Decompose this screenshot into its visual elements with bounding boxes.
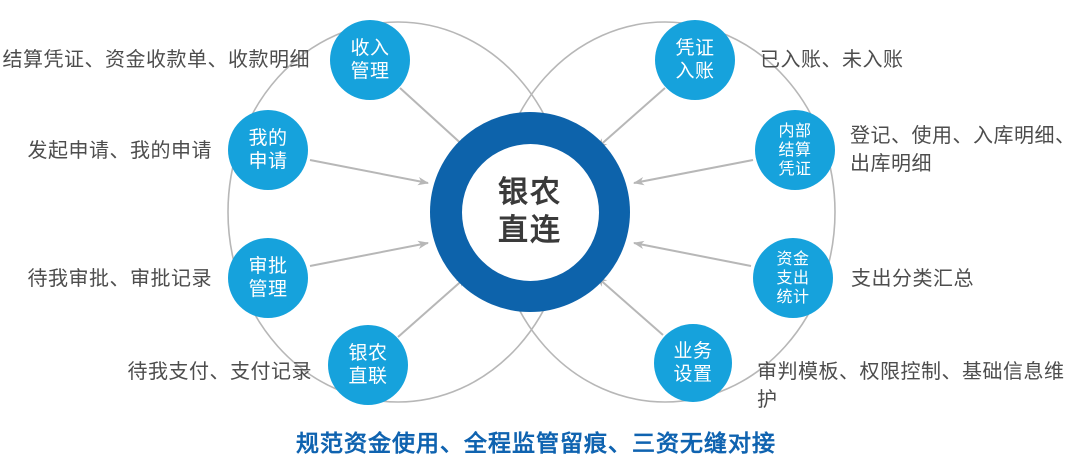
node-income-management-line1: 收入 <box>350 37 389 60</box>
label-my-application: 发起申请、我的申请 <box>0 137 212 165</box>
node-internal-settlement-voucher-line2: 结算 <box>778 141 811 160</box>
node-voucher-entry-line1: 凭证 <box>675 37 714 60</box>
node-internal-settlement-voucher-line1: 内部 <box>778 122 811 141</box>
label-approval-management: 待我审批、审批记录 <box>0 265 212 293</box>
node-approval-management-line1: 审批 <box>248 255 287 278</box>
node-expenditure-statistics[interactable]: 资金 支出 统计 <box>753 238 833 318</box>
connector-income-management <box>400 88 466 148</box>
node-income-management-line2: 管理 <box>350 60 389 83</box>
node-expenditure-statistics-line3: 统计 <box>776 288 809 307</box>
connector-internal-settlement-voucher <box>634 160 753 183</box>
connector-business-settings <box>597 277 663 335</box>
label-income-management: 结算凭证、资金收款单、收款明细 <box>0 46 310 74</box>
connector-expenditure-statistics <box>634 243 751 266</box>
node-voucher-entry-line2: 入账 <box>675 60 714 83</box>
connector-voucher-entry <box>597 88 665 148</box>
diagram-canvas: 银农 直连 收入 管理 我的 申请 审批 管理 银农 直联 凭证 入账 内部 结… <box>0 0 1072 471</box>
node-my-application[interactable]: 我的 申请 <box>228 110 308 190</box>
node-bank-farm-direct-line1: 银农 <box>348 342 387 365</box>
center-hub-ring: 银农 直连 <box>430 112 630 312</box>
center-hub-line2: 直连 <box>498 212 562 250</box>
node-business-settings[interactable]: 业务 设置 <box>654 324 732 402</box>
connector-approval-management <box>310 243 428 266</box>
node-my-application-line2: 申请 <box>248 150 287 173</box>
node-bank-farm-direct-line2: 直联 <box>348 365 387 388</box>
label-business-settings: 审判模板、权限控制、基础信息维护 <box>757 358 1072 414</box>
connector-my-application <box>310 160 428 183</box>
node-business-settings-line2: 设置 <box>673 363 712 386</box>
bottom-caption: 规范资金使用、全程监管留痕、三资无缝对接 <box>0 424 1072 458</box>
label-voucher-entry: 已入账、未入账 <box>760 46 1060 74</box>
connector-bank-farm-direct <box>398 277 466 337</box>
node-voucher-entry[interactable]: 凭证 入账 <box>655 20 735 100</box>
center-hub-line1: 银农 <box>498 174 562 212</box>
center-hub-label: 银农 直连 <box>462 144 599 281</box>
node-expenditure-statistics-line2: 支出 <box>776 269 809 288</box>
node-my-application-line1: 我的 <box>248 127 287 150</box>
label-expenditure-statistics: 支出分类汇总 <box>851 265 1071 293</box>
label-bank-farm-direct: 待我支付、支付记录 <box>0 358 312 386</box>
node-internal-settlement-voucher[interactable]: 内部 结算 凭证 <box>755 110 835 190</box>
label-internal-settlement-voucher: 登记、使用、入库明细、 出库明细 <box>850 122 1072 178</box>
node-approval-management[interactable]: 审批 管理 <box>228 238 308 318</box>
node-internal-settlement-voucher-line3: 凭证 <box>778 160 811 179</box>
node-business-settings-line1: 业务 <box>673 340 712 363</box>
node-expenditure-statistics-line1: 资金 <box>776 250 809 269</box>
node-approval-management-line2: 管理 <box>248 278 287 301</box>
node-income-management[interactable]: 收入 管理 <box>330 20 410 100</box>
node-bank-farm-direct[interactable]: 银农 直联 <box>328 325 408 405</box>
